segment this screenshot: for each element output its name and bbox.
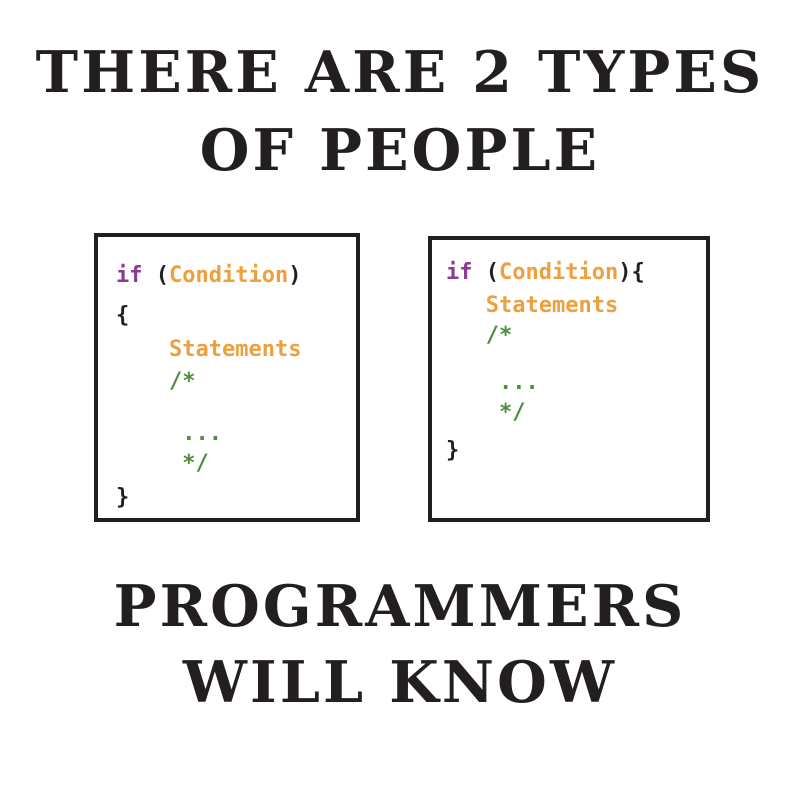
code-panel-left: if (Condition) { Statements /* ... */ } [94, 233, 360, 522]
code-line: /* [116, 371, 195, 393]
code-token-comment: /* [169, 369, 196, 394]
code-token-comment: /* [486, 323, 513, 348]
code-block-left: if (Condition) { Statements /* ... */ } [98, 237, 356, 518]
code-token-keyword: if [116, 263, 143, 288]
code-line: Statements [116, 339, 301, 361]
code-token-identifier: Condition [169, 263, 288, 288]
code-token-comment: */ [499, 400, 526, 425]
code-line: } [446, 440, 459, 462]
code-token-comment: ... [182, 421, 222, 446]
caption-bottom-line-2: WILL KNOW [0, 654, 800, 711]
code-token-punctuation: ){ [618, 260, 645, 285]
caption-top-line-2: OF PEOPLE [0, 122, 800, 179]
code-token-identifier: Condition [499, 260, 618, 285]
caption-bottom-line-1: PROGRAMMERS [0, 578, 800, 635]
code-block-right: if (Condition){ Statements /* ... */ } [432, 240, 706, 518]
code-token-punctuation: ) [288, 263, 301, 288]
code-line: ... [116, 423, 222, 445]
meme-canvas: THERE ARE 2 TYPES OF PEOPLE if (Conditio… [0, 0, 800, 800]
code-token-punctuation: } [446, 438, 459, 463]
code-token-punctuation: ( [143, 263, 170, 288]
code-token-identifier: Statements [169, 337, 301, 362]
code-line: } [116, 487, 129, 509]
code-token-punctuation: } [116, 485, 129, 510]
caption-top-line-1: THERE ARE 2 TYPES [0, 44, 800, 101]
code-line: Statements [446, 295, 618, 317]
code-line: if (Condition) [116, 265, 301, 287]
code-line: { [116, 305, 129, 327]
code-token-comment: */ [182, 451, 209, 476]
code-line: */ [116, 453, 209, 475]
code-line: /* [446, 325, 512, 347]
code-token-punctuation: { [116, 303, 129, 328]
code-token-keyword: if [446, 260, 473, 285]
code-line: if (Condition){ [446, 262, 645, 284]
code-panel-right: if (Condition){ Statements /* ... */ } [428, 236, 710, 522]
code-token-punctuation: ( [473, 260, 500, 285]
code-token-identifier: Statements [486, 293, 618, 318]
code-line: */ [446, 402, 525, 424]
code-line: ... [446, 372, 539, 394]
code-token-comment: ... [499, 370, 539, 395]
